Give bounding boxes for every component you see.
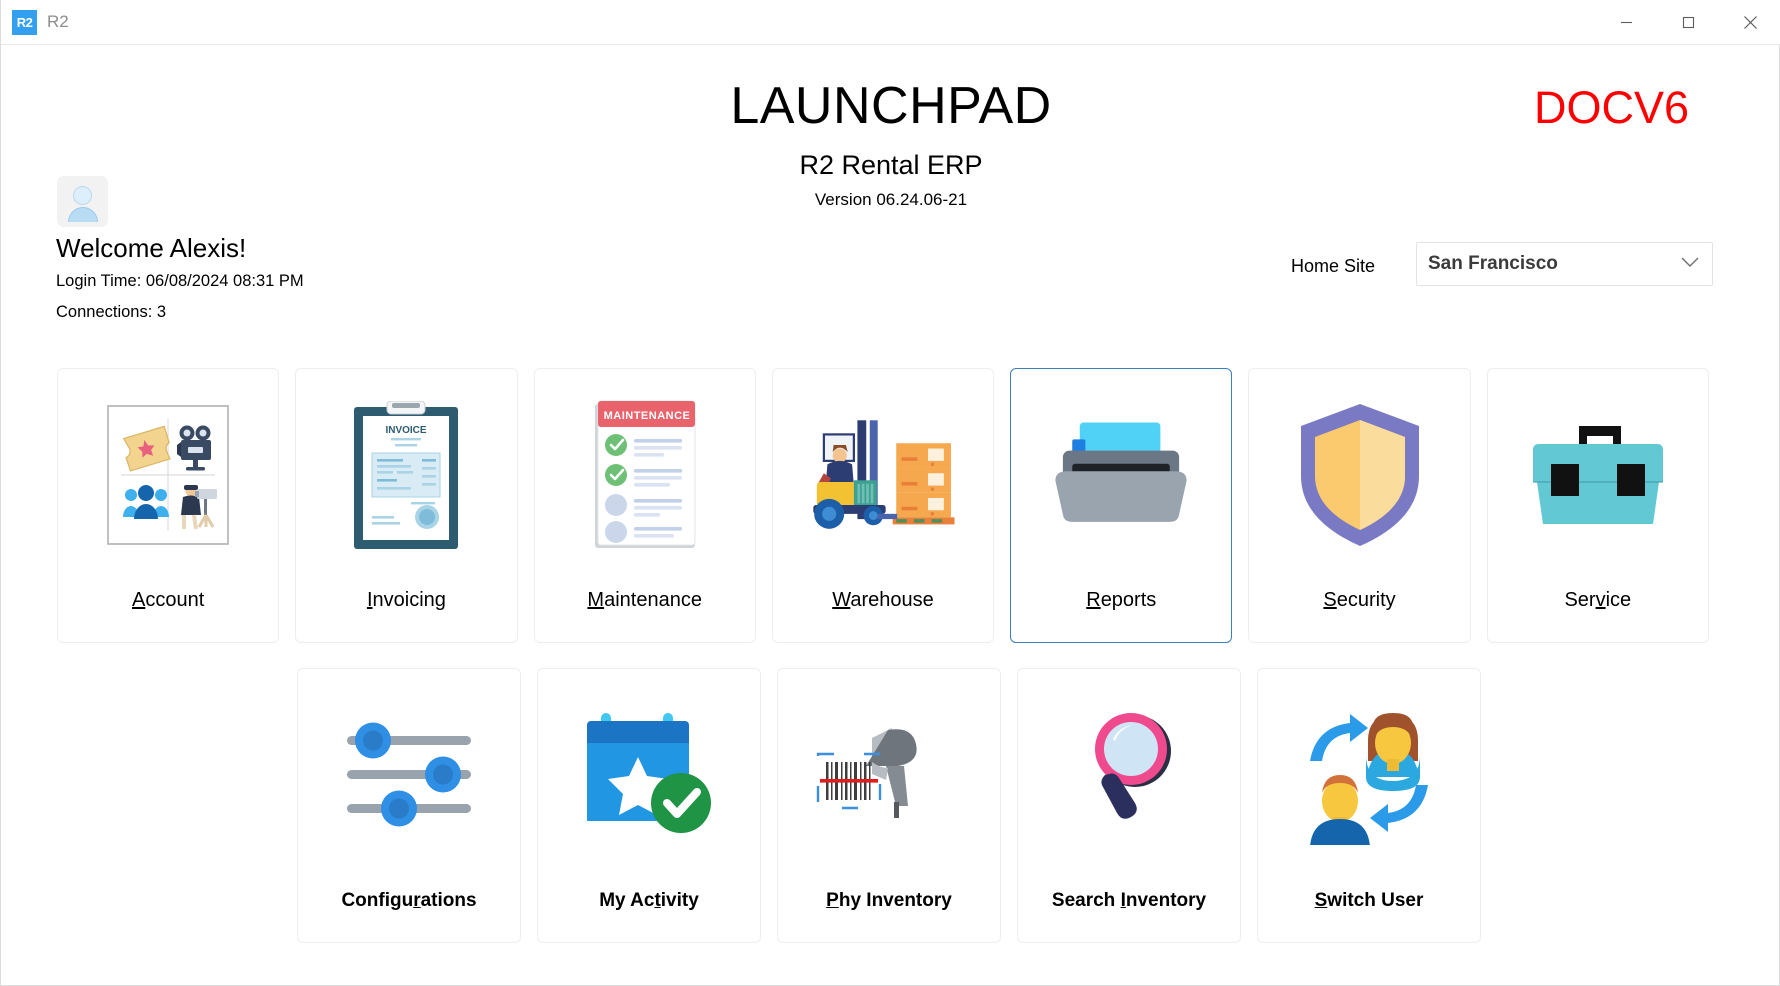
svg-text:MAINTENANCE: MAINTENANCE — [603, 410, 690, 422]
window-title: R2 — [47, 12, 69, 32]
tile-row-2: Configurations My Activity — [297, 668, 1725, 943]
forklift-icon — [808, 395, 958, 555]
tile-label-search-inventory: Search Inventory — [1052, 890, 1206, 912]
tile-phy-inventory[interactable]: Phy Inventory — [777, 668, 1001, 943]
tile-label-switch-user: Switch User — [1315, 890, 1424, 912]
label-pre: Ser — [1564, 589, 1595, 611]
tile-label-account: Account — [132, 589, 204, 612]
close-icon — [1743, 15, 1758, 30]
page-title: LAUNCHPAD — [1, 76, 1780, 136]
maximize-button[interactable] — [1657, 0, 1719, 45]
avatar-body — [68, 207, 98, 222]
switch-user-icon — [1294, 695, 1444, 855]
toolbox-icon — [1523, 395, 1673, 555]
maintenance-checklist-icon: MAINTENANCE — [570, 395, 720, 555]
tile-maintenance[interactable]: MAINTENANCE — [534, 368, 756, 643]
tile-label-warehouse: Warehouse — [832, 589, 934, 612]
label-accelerator: r — [413, 890, 420, 911]
label-post: eports — [1101, 589, 1157, 611]
label-post: nvoicing — [373, 589, 446, 611]
label-post: nventory — [1126, 890, 1206, 911]
title-bar: R2 R2 — [1, 0, 1780, 45]
label-post: witch User — [1327, 890, 1423, 911]
tile-label-service: Service — [1564, 589, 1631, 612]
tile-warehouse[interactable]: Warehouse — [772, 368, 994, 643]
account-grid-icon — [93, 395, 243, 555]
label-post: ccount — [145, 589, 204, 611]
tile-configurations[interactable]: Configurations — [297, 668, 521, 943]
home-site-select[interactable]: San Francisco — [1416, 242, 1713, 286]
printer-icon — [1046, 395, 1196, 555]
invoice-clipboard-icon: INVOICE — [331, 395, 481, 555]
label-accelerator: A — [132, 589, 145, 611]
label-accelerator: R — [1086, 589, 1100, 611]
magnifier-icon — [1054, 695, 1204, 855]
label-post: ecurity — [1337, 589, 1396, 611]
tile-my-activity[interactable]: My Activity — [537, 668, 761, 943]
launchpad-window: R2 R2 LAUNCHPAD R2 Rental ERP Ver — [0, 0, 1780, 986]
connections-count: Connections: 3 — [56, 303, 166, 322]
page-subtitle: R2 Rental ERP — [1, 150, 1780, 181]
label-accelerator: M — [587, 589, 604, 611]
label-post: aintenance — [604, 589, 702, 611]
label-accelerator: W — [832, 589, 850, 611]
app-icon: R2 — [12, 10, 37, 35]
tile-reports[interactable]: Reports — [1010, 368, 1232, 643]
label-accelerator: v — [1596, 589, 1606, 611]
minimize-icon — [1620, 16, 1633, 29]
sliders-icon — [334, 695, 484, 855]
tile-invoicing[interactable]: INVOICE — [295, 368, 517, 643]
tile-service[interactable]: Service — [1487, 368, 1709, 643]
barcode-scanner-icon — [814, 695, 964, 855]
close-button[interactable] — [1719, 0, 1780, 45]
doc-badge: DOCV6 — [1534, 82, 1689, 134]
tile-label-my-activity: My Activity — [599, 890, 699, 912]
tile-grid: Account INVOICE — [57, 368, 1725, 943]
tile-search-inventory[interactable]: Search Inventory — [1017, 668, 1241, 943]
minimize-button[interactable] — [1595, 0, 1657, 45]
tile-row-1: Account INVOICE — [57, 368, 1725, 643]
version-label: Version 06.24.06-21 — [1, 190, 1780, 210]
label-post: ice — [1606, 589, 1632, 611]
label-pre: Configu — [341, 890, 413, 911]
tile-label-security: Security — [1323, 589, 1395, 612]
tile-security[interactable]: Security — [1248, 368, 1470, 643]
shield-icon — [1285, 395, 1435, 555]
tile-account[interactable]: Account — [57, 368, 279, 643]
maximize-icon — [1682, 16, 1695, 29]
label-post: ivity — [661, 890, 699, 911]
label-pre: My Ac — [599, 890, 654, 911]
login-time: Login Time: 06/08/2024 08:31 PM — [56, 272, 304, 291]
chevron-down-icon — [1681, 255, 1699, 273]
tile-switch-user[interactable]: Switch User — [1257, 668, 1481, 943]
tile-label-maintenance: Maintenance — [587, 589, 702, 612]
tile-label-invoicing: Invoicing — [367, 589, 446, 612]
label-post: arehouse — [850, 589, 933, 611]
tile-label-configurations: Configurations — [341, 890, 476, 912]
tile-label-phy-inventory: Phy Inventory — [826, 890, 952, 912]
avatar-head — [73, 186, 92, 205]
user-avatar-icon[interactable] — [57, 176, 108, 227]
home-site-label: Home Site — [1291, 256, 1375, 277]
home-site-value: San Francisco — [1428, 253, 1558, 275]
svg-text:INVOICE: INVOICE — [386, 425, 427, 436]
welcome-message: Welcome Alexis! — [56, 233, 246, 264]
calendar-star-check-icon — [574, 695, 724, 855]
label-accelerator: S — [1315, 890, 1328, 911]
label-accelerator: P — [826, 890, 839, 911]
label-post: ations — [421, 890, 477, 911]
tile-label-reports: Reports — [1086, 589, 1156, 612]
label-pre: Search — [1052, 890, 1121, 911]
label-post: hy Inventory — [839, 890, 952, 911]
window-controls — [1595, 0, 1780, 45]
label-accelerator: S — [1323, 589, 1336, 611]
